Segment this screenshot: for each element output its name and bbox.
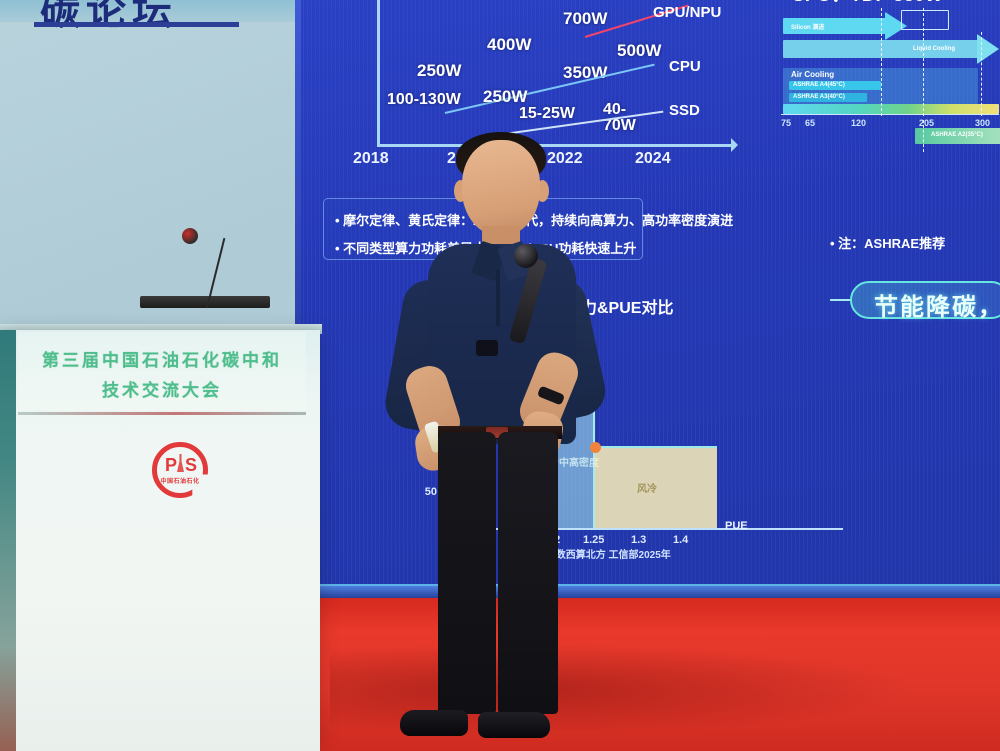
tdp-band-silicon-outline <box>901 10 949 30</box>
tdp-label-ashrae-a4: ASHRAE A4(45°C) <box>793 82 845 88</box>
right-leg <box>498 432 558 714</box>
note-text: 注：ASHRAE推荐 <box>838 236 945 251</box>
tdp-xtick-300: 300 <box>975 118 990 128</box>
tdp-label-liquid: Liquid Cooling <box>913 46 955 52</box>
lapel-microphone <box>476 340 498 356</box>
trend-label-250w-ssd: 250W <box>483 88 509 105</box>
tdp-xtick-75: 75 <box>781 118 791 128</box>
head <box>462 140 540 236</box>
speaker-person <box>390 140 605 740</box>
pue-bar-label-air: 风冷 <box>637 480 657 495</box>
logo-letter-s: S <box>185 455 197 476</box>
podium-mic-base <box>140 296 270 308</box>
podium-sign-line-2: 技术交流大会 <box>18 376 306 401</box>
tdp-label-ashrae-a3: ASHRAE A3(40°C) <box>793 94 845 100</box>
trend-label-500w: 500W <box>617 42 661 59</box>
trend-xtick-2018: 2018 <box>353 150 389 168</box>
pue-xtick-1-4: 1.4 <box>673 534 688 546</box>
trend-label-250w-cpu: 250W <box>417 62 461 79</box>
podium-sign-line-1: 第三届中国石油石化碳中和 <box>18 346 306 371</box>
podium-mic-head <box>182 228 198 244</box>
right-shoe <box>478 712 550 738</box>
shirt-placket <box>496 270 500 326</box>
trend-label-15-25w: 15-25W <box>519 106 575 122</box>
logo-letter-p: P <box>165 455 177 476</box>
tdp-xtick-205: 205 <box>919 118 934 128</box>
tdp-dashline-3 <box>981 32 982 116</box>
tdp-dashline-1 <box>881 8 882 116</box>
bullet-marker-2: • <box>335 241 343 256</box>
screenshot-root: 碳论坛 2018 2020 2022 2024 1200W 700W GPU/N… <box>0 0 1000 751</box>
tdp-label-ashrae-a2: ASHRAE A2(35°C) <box>931 132 983 138</box>
podium-left-edge <box>0 330 16 751</box>
trend-series-label-ssd: SSD <box>669 102 700 119</box>
ashrae-note: • 注：ASHRAE推荐 <box>830 233 945 252</box>
trend-series-label-gpu: GPU/NPU <box>653 4 721 21</box>
podium-event-sign: 第三届中国石油石化碳中和 技术交流大会 <box>18 332 306 410</box>
tdp-spectrum-bar <box>783 104 999 114</box>
pue-axis-label: PUE <box>725 520 748 532</box>
cpu-tdp-chart: CPU：TDP 350W Silicon 演进 Liquid Cooling A… <box>773 0 1000 154</box>
legs-trousers <box>434 432 566 722</box>
tdp-xtick-65: 65 <box>805 118 815 128</box>
tdp-dashline-4 <box>923 120 924 152</box>
cpu-tdp-title: CPU：TDP 350W <box>791 0 943 7</box>
logo-subtitle: 中国石油石化 <box>152 476 208 485</box>
trend-label-700w: 700W <box>563 10 593 27</box>
left-leg <box>438 432 496 714</box>
tdp-axis <box>781 114 999 115</box>
trend-label-400w: 400W <box>487 36 511 53</box>
trend-series-label-cpu: CPU <box>669 58 701 75</box>
tdp-xtick-120: 120 <box>851 118 866 128</box>
banner-underline <box>34 22 239 27</box>
trend-xtick-2024: 2024 <box>635 150 671 168</box>
tdp-label-air: Air Cooling <box>791 70 834 79</box>
tdp-label-silicon: Silicon 演进 <box>791 22 824 31</box>
pue-xtick-1-3: 1.3 <box>631 534 646 546</box>
note-marker: • <box>830 236 838 251</box>
tdp-dashline-2 <box>923 8 924 116</box>
left-shoe <box>400 710 468 736</box>
trend-y-axis <box>377 0 380 146</box>
organization-logo: P S 中国石油石化 <box>152 442 208 498</box>
trend-label-100-130w: 100-130W <box>387 92 461 108</box>
energy-saving-pill-text: 节能降碳， <box>874 287 1000 322</box>
podium-sign-rule <box>18 412 306 415</box>
handheld-microphone-head <box>514 244 538 268</box>
bullet-marker-1: • <box>335 213 343 228</box>
